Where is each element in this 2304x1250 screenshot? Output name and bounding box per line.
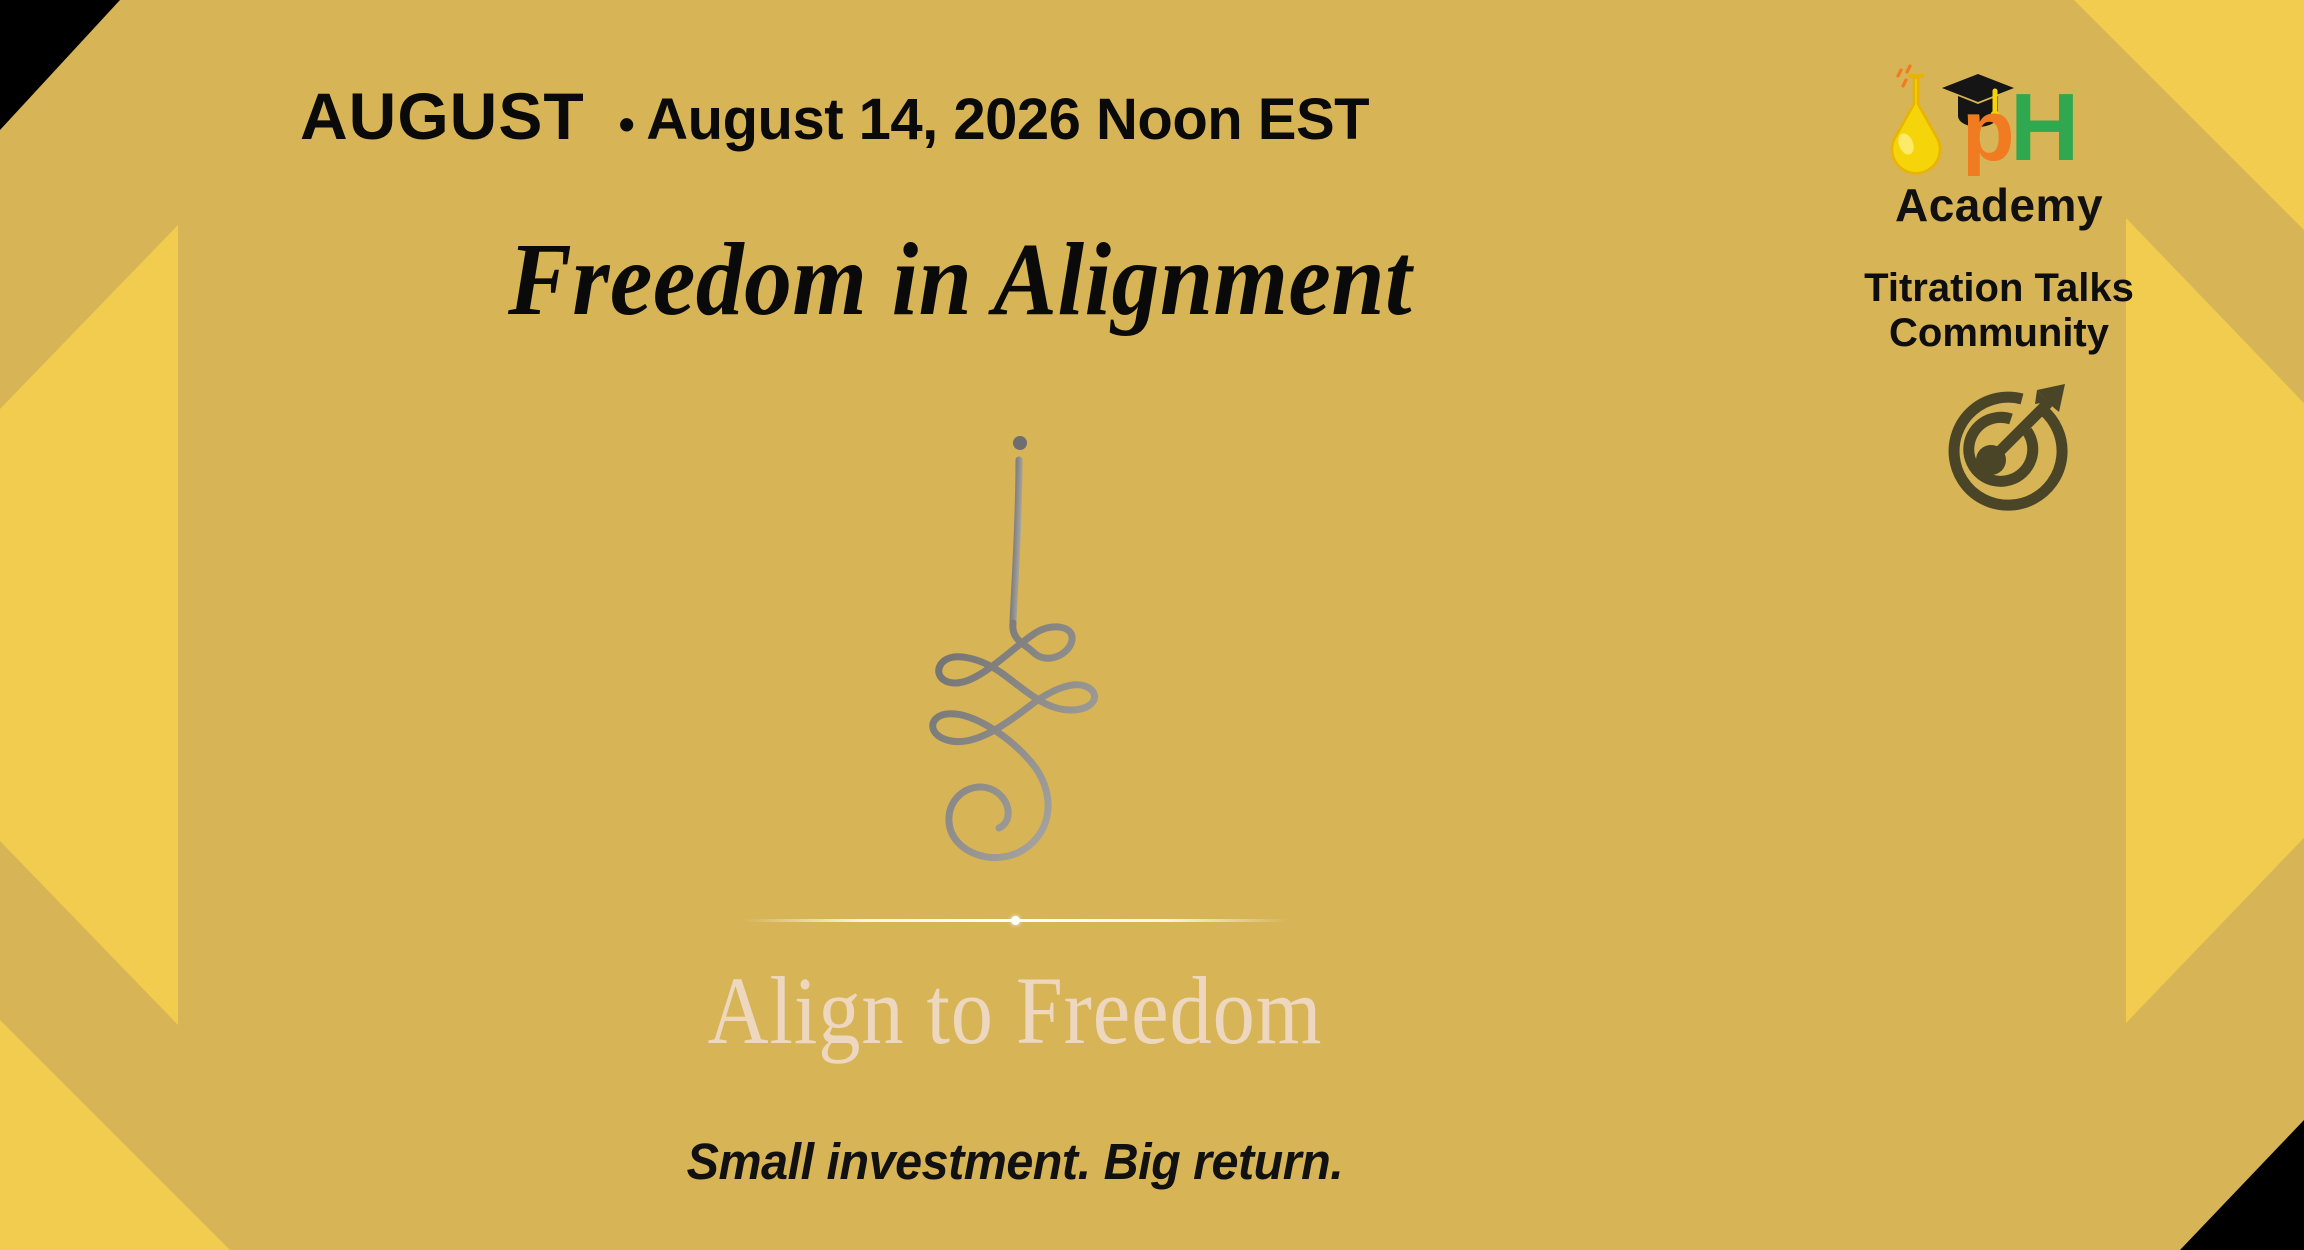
footer-tagline: Small investment. Big return. [51, 1132, 1980, 1191]
header-row: AUGUST •August 14, 2026 Noon EST [300, 78, 1369, 154]
divider-inner [743, 916, 1288, 924]
month-label: AUGUST [300, 78, 585, 154]
bullet-separator: • [619, 98, 635, 150]
event-date-line: •August 14, 2026 Noon EST [619, 86, 1369, 153]
ph-academy-logo: p H [1874, 58, 2124, 176]
ph-academy-logo-svg: p H [1874, 58, 2124, 176]
align-tagline: Align to Freedom [122, 955, 1908, 1066]
svg-text:p: p [1962, 83, 2015, 176]
flask-icon [1892, 76, 1940, 173]
divider-dot-icon [1011, 916, 1020, 925]
community-line-2: Community [1834, 311, 2164, 356]
zen-swirl-container [0, 418, 2030, 888]
community-label: Titration Talks Community [1834, 266, 2164, 356]
community-line-1: Titration Talks [1834, 266, 2164, 311]
svg-text:H: H [2010, 74, 2079, 176]
page-title: Freedom in Alignment [77, 220, 1843, 339]
divider [0, 916, 2030, 924]
logo-letter-h: H [2010, 74, 2079, 176]
event-date-text: August 14, 2026 Noon EST [646, 87, 1369, 152]
logo-letter-p: p [1962, 83, 2015, 176]
logo-academy-label: Academy [1834, 178, 2164, 232]
poster-canvas: AUGUST •August 14, 2026 Noon EST Freedom… [0, 0, 2304, 1250]
zen-swirl-icon [885, 418, 1145, 888]
